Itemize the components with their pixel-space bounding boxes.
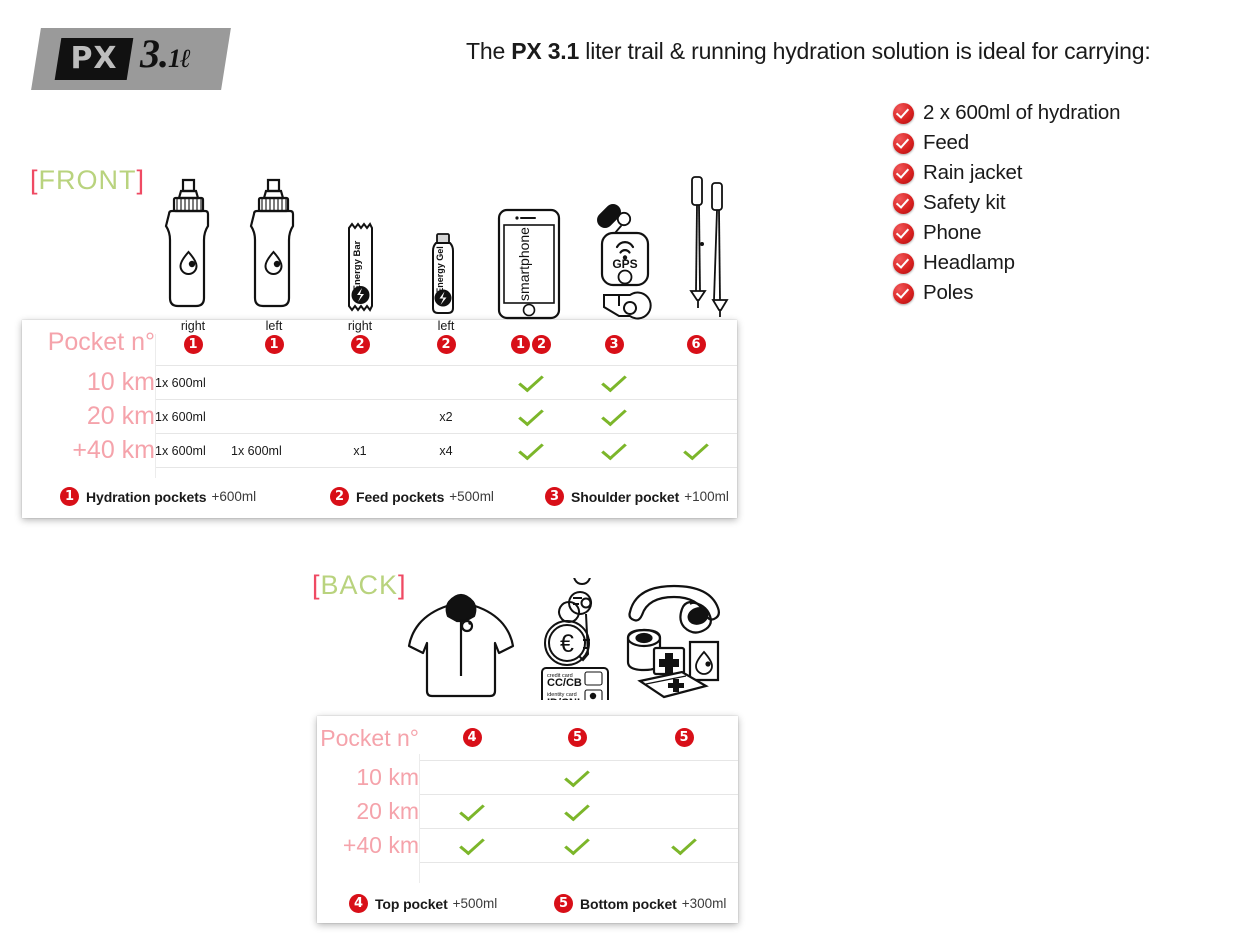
pocket-badge: 2	[437, 335, 456, 354]
check-icon	[464, 796, 481, 822]
check-icon	[569, 796, 586, 822]
list-item: Rain jacket	[893, 158, 1223, 188]
legend-volume: +300ml	[682, 896, 727, 911]
pocket-number-label: Pocket n°	[22, 320, 155, 366]
table-header-row: Pocket n° right 1 left 1 right 2 left 2 …	[22, 320, 737, 366]
cell-tick	[525, 828, 630, 862]
cell-empty	[630, 760, 738, 794]
cell-tick	[655, 434, 737, 468]
logo-brand-text: PX	[58, 38, 130, 80]
back-section-tag: [BACK]	[312, 570, 407, 601]
check-icon	[606, 367, 623, 393]
check-circle-icon	[893, 253, 914, 274]
pocket-badge: 1	[265, 335, 284, 354]
check-icon	[688, 435, 705, 461]
check-circle-icon	[893, 193, 914, 214]
column-header-3: right 2	[317, 320, 403, 366]
legend-name: Bottom pocket	[580, 896, 677, 912]
legend-volume: +100ml	[684, 489, 729, 504]
row-label: 10 km	[317, 760, 419, 794]
column-header-4: left 2	[403, 320, 489, 366]
svg-text:CC/CB: CC/CB	[547, 677, 582, 689]
cell-value: 1x 600ml	[155, 400, 231, 434]
legend-badge: 1	[60, 487, 79, 506]
check-icon	[606, 401, 623, 427]
table-row: 10 km 1x 600ml	[22, 366, 737, 400]
legend-item: 4 Top pocket +500ml	[349, 894, 554, 913]
checklist-label: Rain jacket	[923, 161, 1022, 185]
check-circle-icon	[893, 163, 914, 184]
cell-value	[231, 400, 317, 434]
check-circle-icon	[893, 103, 914, 124]
svg-text:smartphone: smartphone	[516, 227, 532, 301]
logo-version: 3.1ℓ	[140, 30, 190, 77]
energy-bar-icon: Energy Bar	[342, 222, 378, 316]
front-legend: 1 Hydration pockets +600ml 2 Feed pocket…	[60, 487, 750, 506]
front-icon-strip: Energy Bar Energy Gel smartphone	[150, 170, 740, 315]
legend-badge: 5	[554, 894, 573, 913]
cell-empty	[655, 400, 737, 434]
table-header-row: Pocket n° 4 5 5	[317, 716, 738, 760]
front-pocket-table-card: Pocket n° right 1 left 1 right 2 left 2 …	[22, 320, 737, 518]
cell-tick	[419, 794, 525, 828]
euro-symbol: €	[560, 630, 574, 658]
cell-empty	[655, 366, 737, 400]
front-pocket-table: Pocket n° right 1 left 1 right 2 left 2 …	[22, 320, 737, 469]
cell-value	[317, 366, 403, 400]
table-row: 20 km	[317, 794, 738, 828]
row-label: +40 km	[317, 828, 419, 862]
back-label: BACK	[321, 570, 399, 600]
legend-name: Hydration pockets	[86, 489, 206, 505]
pocket-badge: 2	[532, 335, 551, 354]
back-legend: 4 Top pocket +500ml 5 Bottom pocket +300…	[349, 894, 729, 913]
column-header-7: 6	[655, 320, 737, 366]
table-row: +40 km 1x 600ml 1x 600ml x1 x4	[22, 434, 737, 468]
cell-tick	[525, 794, 630, 828]
headline-suffix: liter trail & running hydration solution…	[579, 38, 1150, 64]
pocket-badge: 3	[605, 335, 624, 354]
column-side-label	[655, 320, 737, 335]
svg-text:GPS: GPS	[612, 257, 637, 271]
table-divider	[155, 334, 156, 478]
list-item: Headlamp	[893, 248, 1223, 278]
checklist-label: 2 x 600ml of hydration	[923, 101, 1120, 125]
back-pocket-table: Pocket n° 4 5 5 10 km 20 km +40 km	[317, 716, 738, 864]
checklist-label: Feed	[923, 131, 969, 155]
checklist-label: Headlamp	[923, 251, 1015, 275]
cell-value	[231, 366, 317, 400]
check-icon	[464, 830, 481, 856]
column-header-2: left 1	[231, 320, 317, 366]
carry-checklist: 2 x 600ml of hydration Feed Rain jacket …	[893, 98, 1223, 308]
cell-tick	[573, 434, 655, 468]
bracket-open: [	[312, 570, 321, 600]
column-header-3: 5	[630, 716, 738, 760]
row-label: +40 km	[22, 434, 155, 468]
legend-badge: 4	[349, 894, 368, 913]
svg-text:ID/CNI: ID/CNI	[547, 697, 580, 700]
legend-name: Top pocket	[375, 896, 448, 912]
column-side-label: right	[155, 320, 231, 335]
svg-text:Energy Bar: Energy Bar	[352, 240, 363, 291]
row-label: 20 km	[22, 400, 155, 434]
cell-tick	[573, 366, 655, 400]
column-side-label	[573, 320, 655, 335]
rain-jacket-icon	[405, 584, 517, 706]
legend-volume: +500ml	[453, 896, 498, 911]
soft-flask-left-icon	[242, 176, 306, 316]
list-item: 2 x 600ml of hydration	[893, 98, 1223, 128]
checklist-label: Poles	[923, 281, 973, 305]
legend-item: 5 Bottom pocket +300ml	[554, 894, 726, 913]
column-header-6: 3	[573, 320, 655, 366]
column-header-2: 5	[525, 716, 630, 760]
legend-badge: 3	[545, 487, 564, 506]
table-row: +40 km	[317, 828, 738, 862]
logo-px-block: PX	[55, 38, 134, 80]
cell-empty	[419, 760, 525, 794]
svg-text:Energy Gel: Energy Gel	[435, 246, 445, 294]
cell-value: x1	[317, 434, 403, 468]
list-item: Poles	[893, 278, 1223, 308]
legend-item: 3 Shoulder pocket +100ml	[545, 487, 729, 506]
list-item: Phone	[893, 218, 1223, 248]
gps-whistle-icon: GPS	[590, 195, 664, 320]
table-bottom-rule	[22, 468, 737, 470]
column-side-label: left	[231, 320, 317, 335]
row-label: 10 km	[22, 366, 155, 400]
column-header-5: 12	[489, 320, 573, 366]
pocket-badge: 1	[184, 335, 203, 354]
cell-value: x4	[403, 434, 489, 468]
check-circle-icon	[893, 223, 914, 244]
cell-tick	[573, 400, 655, 434]
check-circle-icon	[893, 283, 914, 304]
column-header-1: right 1	[155, 320, 231, 366]
front-label: FRONT	[39, 165, 137, 195]
column-side-label	[489, 320, 573, 335]
cell-value: x2	[403, 400, 489, 434]
legend-volume: +500ml	[449, 489, 494, 504]
soft-flask-right-icon	[157, 176, 221, 316]
legend-badge: 2	[330, 487, 349, 506]
pocket-badge: 5	[568, 728, 587, 747]
logo-version-number: 3.	[140, 31, 168, 76]
cell-tick	[419, 828, 525, 862]
checklist-label: Phone	[923, 221, 981, 245]
cell-value: 1x 600ml	[155, 434, 231, 468]
trekking-poles-icon	[680, 174, 736, 319]
list-item: Feed	[893, 128, 1223, 158]
keys-money-cards-icon: € credit card CC/CB identity card ID/CNI	[525, 578, 617, 700]
check-circle-icon	[893, 133, 914, 154]
cell-empty	[630, 794, 738, 828]
cell-value: 1x 600ml	[231, 434, 317, 468]
cell-value	[403, 366, 489, 400]
cell-tick	[630, 828, 738, 862]
check-icon	[676, 830, 693, 856]
legend-volume: +600ml	[211, 489, 256, 504]
table-bottom-rule	[317, 862, 738, 864]
front-section-tag: [FRONT]	[30, 165, 145, 196]
cell-tick	[525, 760, 630, 794]
check-icon	[523, 401, 540, 427]
cell-tick	[489, 400, 573, 434]
check-icon	[523, 367, 540, 393]
cell-value	[317, 400, 403, 434]
check-icon	[606, 435, 623, 461]
legend-item: 2 Feed pockets +500ml	[330, 487, 545, 506]
back-icon-strip: € credit card CC/CB identity card ID/CNI	[400, 578, 730, 713]
bracket-close: ]	[137, 165, 146, 195]
column-side-label: left	[403, 320, 489, 335]
page-title: The PX 3.1 liter trail & running hydrati…	[466, 38, 1206, 65]
column-side-label: right	[317, 320, 403, 335]
legend-name: Shoulder pocket	[571, 489, 679, 505]
legend-name: Feed pockets	[356, 489, 444, 505]
pocket-badge: 5	[675, 728, 694, 747]
check-icon	[523, 435, 540, 461]
bracket-open: [	[30, 165, 39, 195]
logo-version-unit: 1ℓ	[168, 44, 190, 73]
px-logo: PX 3.1ℓ	[36, 28, 226, 90]
safety-kit-headlamp-icon	[618, 582, 724, 700]
check-icon	[569, 762, 586, 788]
pocket-badge: 6	[687, 335, 706, 354]
check-icon	[569, 830, 586, 856]
energy-gel-icon: Energy Gel	[428, 232, 458, 316]
cell-tick	[489, 366, 573, 400]
back-pocket-table-card: Pocket n° 4 5 5 10 km 20 km +40 km	[317, 716, 738, 923]
headline-highlight: PX 3.1	[511, 38, 579, 64]
pocket-badge: 1	[511, 335, 530, 354]
checklist-label: Safety kit	[923, 191, 1005, 215]
cell-value: 1x 600ml	[155, 366, 231, 400]
column-header-1: 4	[419, 716, 525, 760]
legend-item: 1 Hydration pockets +600ml	[60, 487, 330, 506]
pocket-badge: 4	[463, 728, 482, 747]
table-row: 10 km	[317, 760, 738, 794]
headline-prefix: The	[466, 38, 511, 64]
smartphone-icon: smartphone	[497, 208, 561, 320]
table-row: 20 km 1x 600ml x2	[22, 400, 737, 434]
list-item: Safety kit	[893, 188, 1223, 218]
pocket-badge: 2	[351, 335, 370, 354]
table-divider	[419, 754, 420, 883]
row-label: 20 km	[317, 794, 419, 828]
cell-tick	[489, 434, 573, 468]
pocket-number-label: Pocket n°	[317, 716, 419, 760]
